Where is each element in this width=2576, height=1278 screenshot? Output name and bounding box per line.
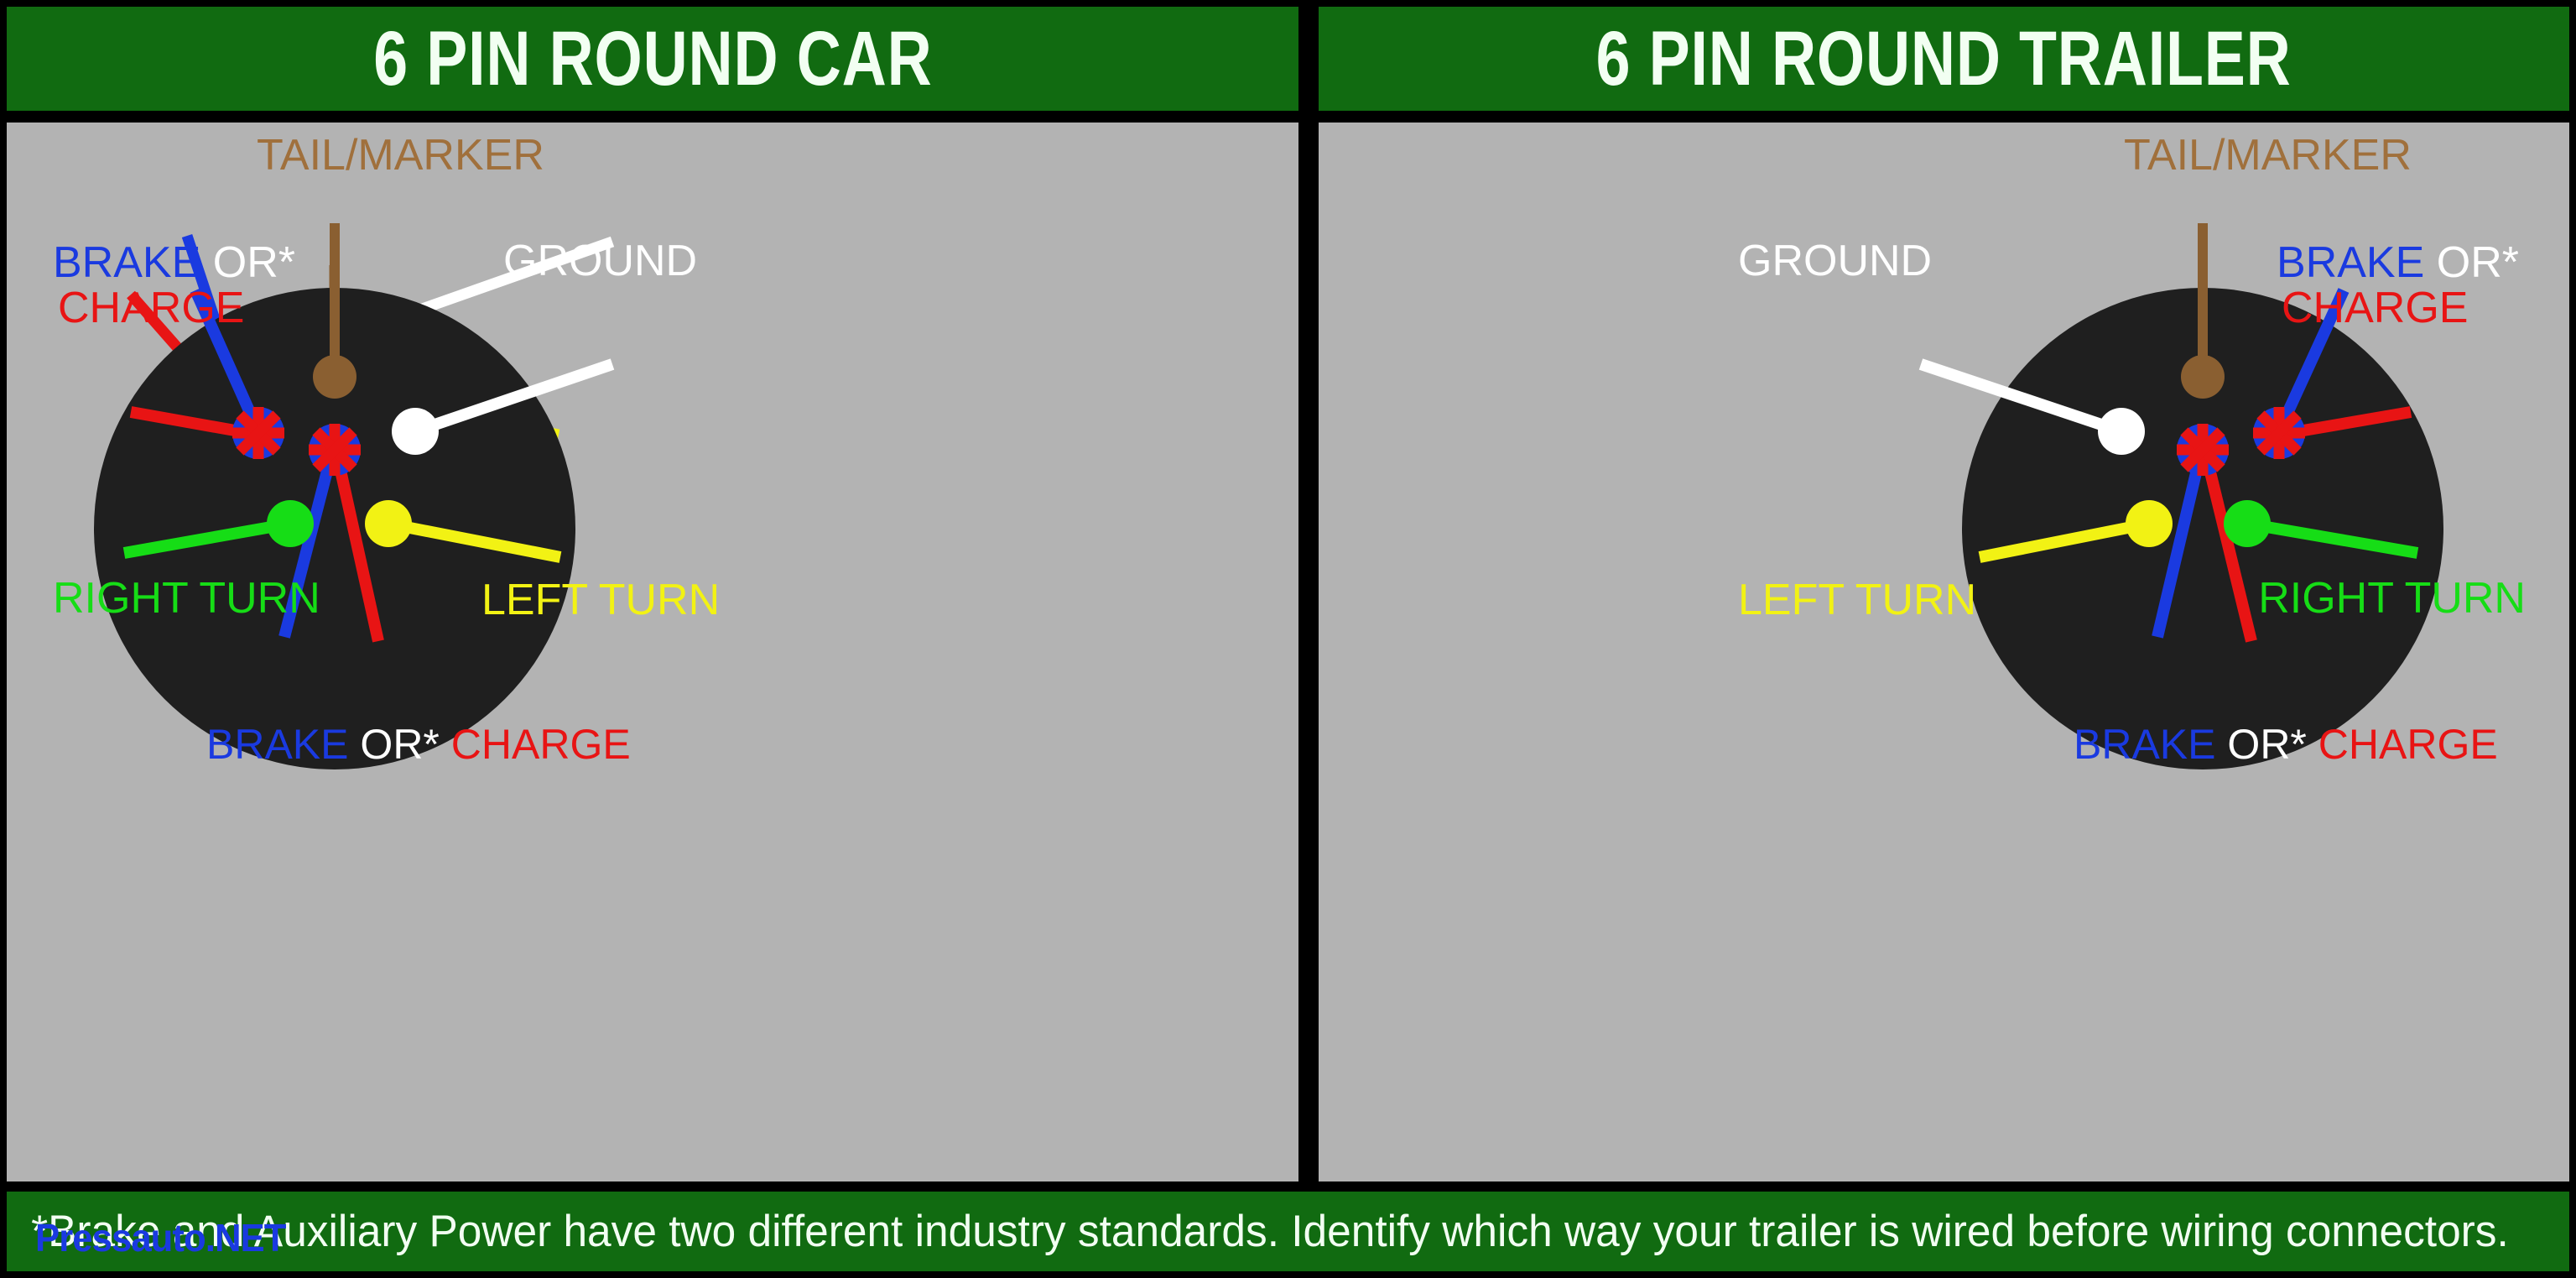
label-or-star-text: OR* bbox=[2437, 238, 2519, 287]
label-tail-marker-car: TAIL/MARKER bbox=[257, 133, 544, 178]
panel-title-trailer: 6 PIN ROUND TRAILER bbox=[1596, 15, 2292, 103]
label-ground-trailer: GROUND bbox=[1738, 238, 1932, 284]
pin-brake-charge-left-car bbox=[232, 407, 284, 459]
footnote-banner: *Brake and Auxiliary Power have two diff… bbox=[7, 1192, 2569, 1271]
label-brake-charge-right-trailer: BRAKE OR* CHARGE bbox=[2277, 240, 2519, 331]
label-center-charge-text: CHARGE bbox=[2318, 721, 2498, 768]
pin-brake-charge-right-trailer bbox=[2253, 407, 2305, 459]
pin-ground-trailer bbox=[2098, 408, 2145, 455]
label-brake-text: BRAKE bbox=[2277, 238, 2424, 287]
label-or-star-text: OR* bbox=[213, 238, 295, 287]
label-tail-marker-trailer: TAIL/MARKER bbox=[2124, 133, 2412, 178]
label-center-charge-text: CHARGE bbox=[451, 721, 631, 768]
diagram-sheet: 6 PIN ROUND CAR 6 PIN ROUND TRAILER bbox=[0, 0, 2576, 1278]
connector-panel-trailer: TAIL/MARKER BRAKE OR* CHARGE GROUND RIGH… bbox=[1319, 123, 2569, 1181]
pin-brake-charge-center-trailer bbox=[2177, 424, 2229, 476]
panel-header-trailer: 6 PIN ROUND TRAILER bbox=[1319, 7, 2569, 111]
label-brake-charge-center-trailer: BRAKE OR* CHARGE bbox=[2074, 722, 2498, 766]
label-center-or-text: OR* bbox=[360, 721, 439, 768]
label-brake-charge-center-car: BRAKE OR* CHARGE bbox=[206, 722, 631, 766]
pin-left-turn-trailer bbox=[2126, 500, 2173, 547]
label-center-brake-text: BRAKE bbox=[206, 721, 349, 768]
label-charge-text: CHARGE bbox=[2277, 285, 2519, 331]
label-right-turn-car: RIGHT TURN bbox=[53, 576, 320, 621]
label-center-brake-text: BRAKE bbox=[2074, 721, 2216, 768]
label-brake-text: BRAKE bbox=[53, 238, 200, 287]
pin-tail-marker-car bbox=[313, 355, 356, 399]
label-brake-charge-left-car: BRAKE OR* CHARGE bbox=[53, 240, 295, 331]
pin-left-turn-car bbox=[365, 500, 412, 547]
label-left-turn-trailer: LEFT TURN bbox=[1738, 577, 1976, 623]
pin-right-turn-trailer bbox=[2224, 500, 2271, 547]
connector-panel-car: TAIL/MARKER BRAKE OR* CHARGE GROUND RIGH… bbox=[7, 123, 1298, 1181]
label-right-turn-trailer: RIGHT TURN bbox=[2258, 576, 2526, 621]
pin-ground-car bbox=[392, 408, 439, 455]
label-center-or-text: OR* bbox=[2227, 721, 2306, 768]
pin-right-turn-car bbox=[267, 500, 314, 547]
watermark-text: Pressauto.NET bbox=[35, 1215, 286, 1260]
panel-header-car: 6 PIN ROUND CAR bbox=[7, 7, 1298, 111]
label-ground-car: GROUND bbox=[503, 238, 697, 284]
label-charge-text: CHARGE bbox=[53, 285, 295, 331]
footnote-text: *Brake and Auxiliary Power have two diff… bbox=[7, 1206, 2509, 1257]
pin-tail-marker-trailer bbox=[2181, 355, 2225, 399]
label-left-turn-car: LEFT TURN bbox=[481, 577, 720, 623]
panel-title-car: 6 PIN ROUND CAR bbox=[373, 15, 932, 103]
pin-brake-charge-center-car bbox=[309, 424, 361, 476]
